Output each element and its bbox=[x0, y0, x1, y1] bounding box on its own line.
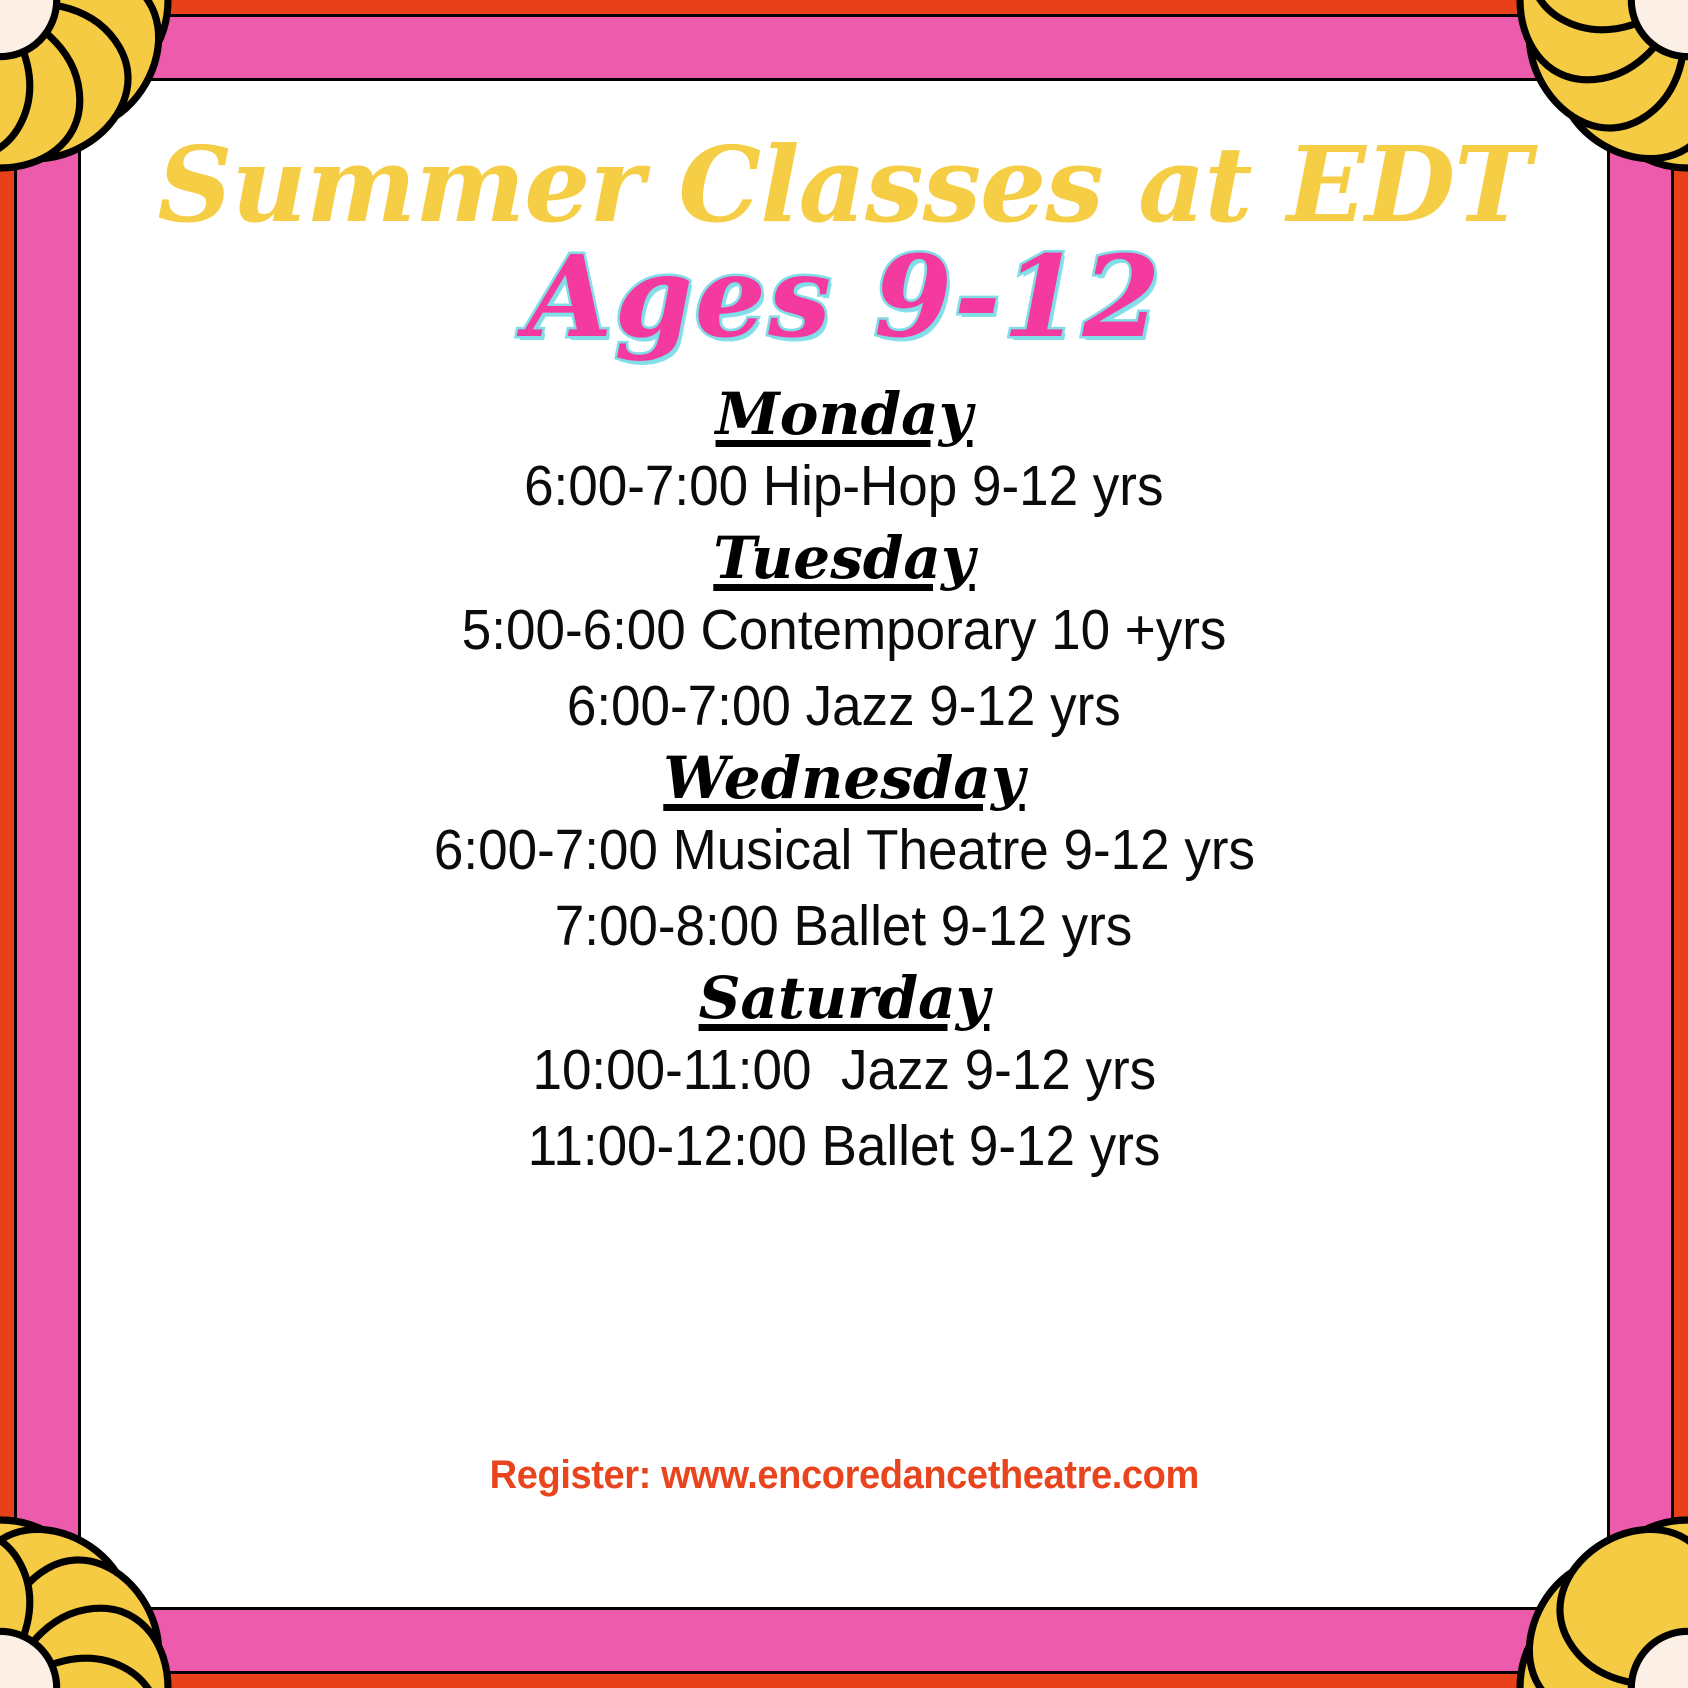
registration-link[interactable]: Register: www.encoredancetheatre.com bbox=[489, 1453, 1198, 1498]
class-entry: 11:00-12:00 Ballet 9-12 yrs bbox=[528, 1109, 1161, 1185]
poster-canvas: Summer Classes at EDT Ages 9-12 Monday6:… bbox=[0, 0, 1688, 1688]
day-heading-monday: Monday bbox=[716, 380, 973, 448]
class-schedule-list: Monday6:00-7:00 Hip-Hop 9-12 yrsTuesday5… bbox=[86, 380, 1602, 1184]
day-heading-tuesday: Tuesday bbox=[713, 524, 974, 592]
class-entry: 7:00-8:00 Ballet 9-12 yrs bbox=[555, 889, 1133, 965]
poster-content: Summer Classes at EDT Ages 9-12 Monday6:… bbox=[86, 86, 1602, 1602]
day-heading-wednesday: Wednesday bbox=[663, 744, 1024, 812]
day-heading-saturday: Saturday bbox=[699, 964, 990, 1032]
class-entry: 5:00-6:00 Contemporary 10 +yrs bbox=[462, 593, 1227, 669]
class-entry: 10:00-11:00 Jazz 9-12 yrs bbox=[532, 1033, 1156, 1109]
class-entry: 6:00-7:00 Musical Theatre 9-12 yrs bbox=[433, 813, 1254, 889]
class-entry: 6:00-7:00 Hip-Hop 9-12 yrs bbox=[524, 449, 1163, 525]
age-range-subtitle: Ages 9-12 bbox=[526, 242, 1163, 354]
page-title: Summer Classes at EDT bbox=[157, 132, 1530, 238]
class-entry: 6:00-7:00 Jazz 9-12 yrs bbox=[567, 669, 1121, 745]
